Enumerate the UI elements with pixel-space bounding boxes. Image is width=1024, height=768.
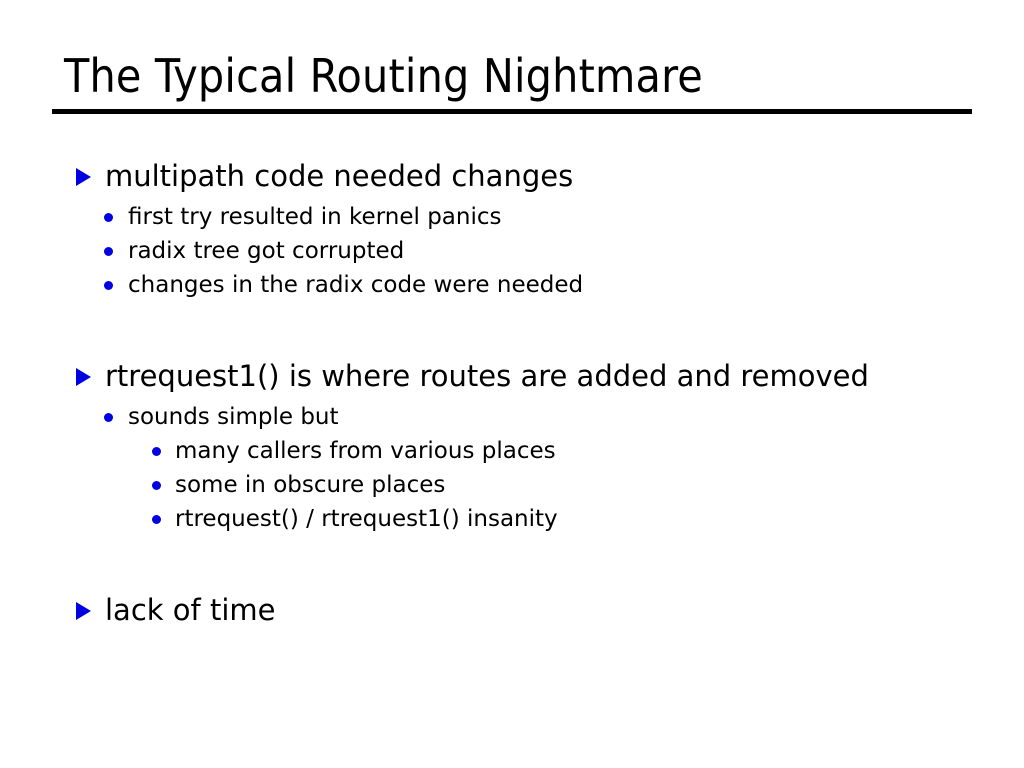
slide-body: multipath code needed changes first try … (0, 152, 1024, 634)
bullet-level1-text: lack of time (105, 593, 275, 627)
bullet-level3-text: some in obscure places (175, 472, 445, 498)
dot-bullet-icon (104, 213, 113, 222)
dot-bullet-icon (104, 281, 113, 290)
bullet-level2-text: changes in the radix code were needed (128, 272, 583, 298)
bullet-level3-text: rtrequest() / rtrequest1() insanity (175, 506, 558, 532)
dot-bullet-icon (104, 247, 113, 256)
dot-bullet-icon (152, 447, 161, 456)
bullet-group-2: rtrequest1() is where routes are added a… (0, 352, 1024, 536)
bullet-level3: some in obscure places (0, 468, 1024, 502)
bullet-level1-text: multipath code needed changes (105, 159, 573, 193)
group-spacer (0, 328, 1024, 352)
bullet-level2-text: radix tree got corrupted (128, 238, 404, 264)
bullet-level2-text: first try resulted in kernel panics (128, 204, 501, 230)
bullet-level1: lack of time (0, 586, 1024, 634)
bullet-level2: first try resulted in kernel panics (0, 200, 1024, 234)
bullet-level1: rtrequest1() is where routes are added a… (0, 352, 1024, 400)
bullet-level3: rtrequest() / rtrequest1() insanity (0, 502, 1024, 536)
bullet-level1: multipath code needed changes (0, 152, 1024, 200)
dot-bullet-icon (104, 413, 113, 422)
bullet-level3: many callers from various places (0, 434, 1024, 468)
bullet-level2: changes in the radix code were needed (0, 268, 1024, 302)
bullet-level1-text: rtrequest1() is where routes are added a… (105, 359, 869, 393)
slide-title-block: The Typical Routing Nightmare (52, 48, 972, 114)
title-divider (52, 109, 972, 114)
bullet-group-1: multipath code needed changes first try … (0, 152, 1024, 302)
bullet-level2: radix tree got corrupted (0, 234, 1024, 268)
bullet-level2: sounds simple but (0, 400, 1024, 434)
triangle-bullet-icon (76, 168, 91, 186)
dot-bullet-icon (152, 515, 161, 524)
bullet-group-3: lack of time (0, 586, 1024, 634)
slide: The Typical Routing Nightmare multipath … (0, 0, 1024, 768)
bullet-level3-text: many callers from various places (175, 438, 556, 464)
triangle-bullet-icon (76, 602, 91, 620)
bullet-level2-text: sounds simple but (128, 404, 339, 430)
triangle-bullet-icon (76, 368, 91, 386)
group-spacer (0, 562, 1024, 586)
page-title: The Typical Routing Nightmare (52, 48, 972, 104)
dot-bullet-icon (152, 481, 161, 490)
